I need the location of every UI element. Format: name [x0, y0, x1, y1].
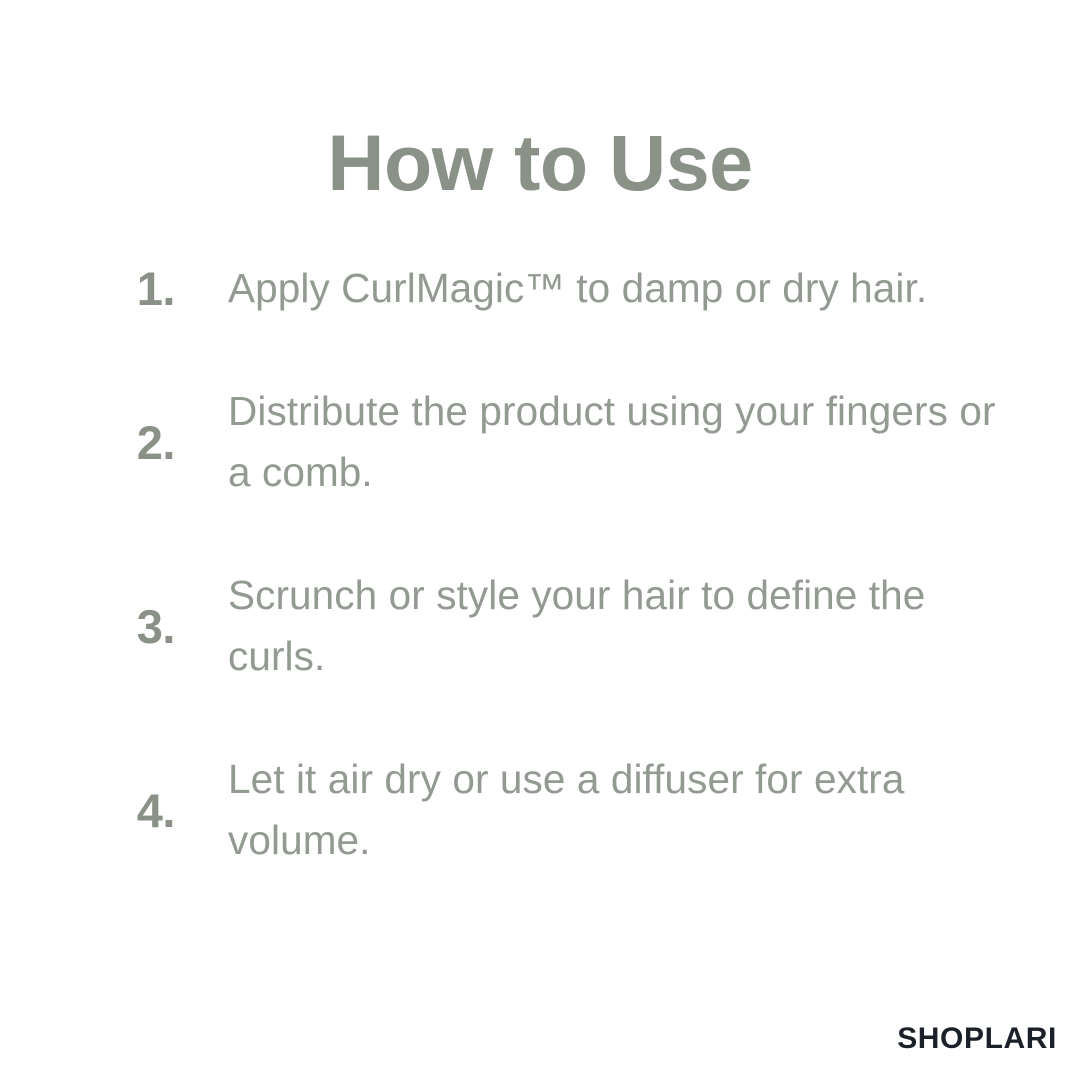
step-text: Let it air dry or use a diffuser for ext… [175, 749, 1080, 871]
step-number: 3. [0, 603, 175, 650]
list-item: 3. Scrunch or style your hair to define … [0, 565, 1080, 687]
list-item: 4. Let it air dry or use a diffuser for … [0, 749, 1080, 871]
how-to-use-card: How to Use 1. Apply CurlMagic™ to damp o… [0, 0, 1080, 1080]
step-text: Scrunch or style your hair to define the… [175, 565, 1080, 687]
steps-list: 1. Apply CurlMagic™ to damp or dry hair.… [0, 258, 1080, 871]
page-title: How to Use [327, 121, 752, 205]
step-number: 1. [0, 265, 175, 312]
list-item: 2. Distribute the product using your fin… [0, 381, 1080, 503]
step-text: Apply CurlMagic™ to damp or dry hair. [175, 258, 1080, 319]
list-item: 1. Apply CurlMagic™ to damp or dry hair. [0, 258, 1080, 319]
brand-logo: SHOPLARI [897, 1024, 1057, 1054]
step-number: 4. [0, 787, 175, 834]
step-number: 2. [0, 419, 175, 466]
page-title-container: How to Use [0, 68, 1080, 258]
step-text: Distribute the product using your finger… [175, 381, 1080, 503]
